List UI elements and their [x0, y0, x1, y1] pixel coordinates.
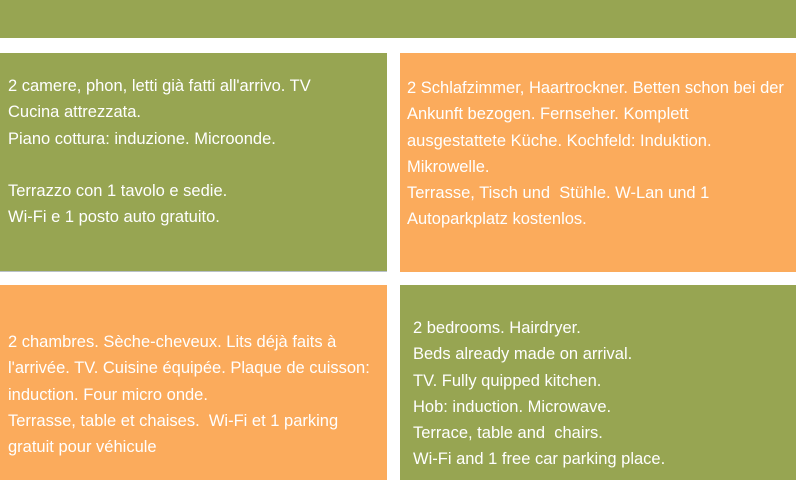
- title-banner: DESCRIZIONE E INVENTARIO GOLD: [0, 0, 796, 38]
- slide-canvas: DESCRIZIONE E INVENTARIO GOLD 2 camere, …: [0, 0, 796, 480]
- description-text-english: 2 bedrooms. Hairdryer. Beds already made…: [413, 315, 786, 473]
- description-text-german: 2 Schlafzimmer, Haartrockner. Betten sch…: [407, 75, 786, 233]
- description-panel-french: 2 chambres. Sèche-cheveux. Lits déjà fai…: [0, 285, 387, 480]
- description-panel-english: 2 bedrooms. Hairdryer. Beds already made…: [400, 285, 796, 480]
- description-text-french: 2 chambres. Sèche-cheveux. Lits déjà fai…: [8, 329, 373, 460]
- description-panel-italian: 2 camere, phon, letti già fatti all'arri…: [0, 53, 387, 272]
- description-panel-german: 2 Schlafzimmer, Haartrockner. Betten sch…: [400, 53, 796, 272]
- description-text-italian: 2 camere, phon, letti già fatti all'arri…: [8, 73, 373, 231]
